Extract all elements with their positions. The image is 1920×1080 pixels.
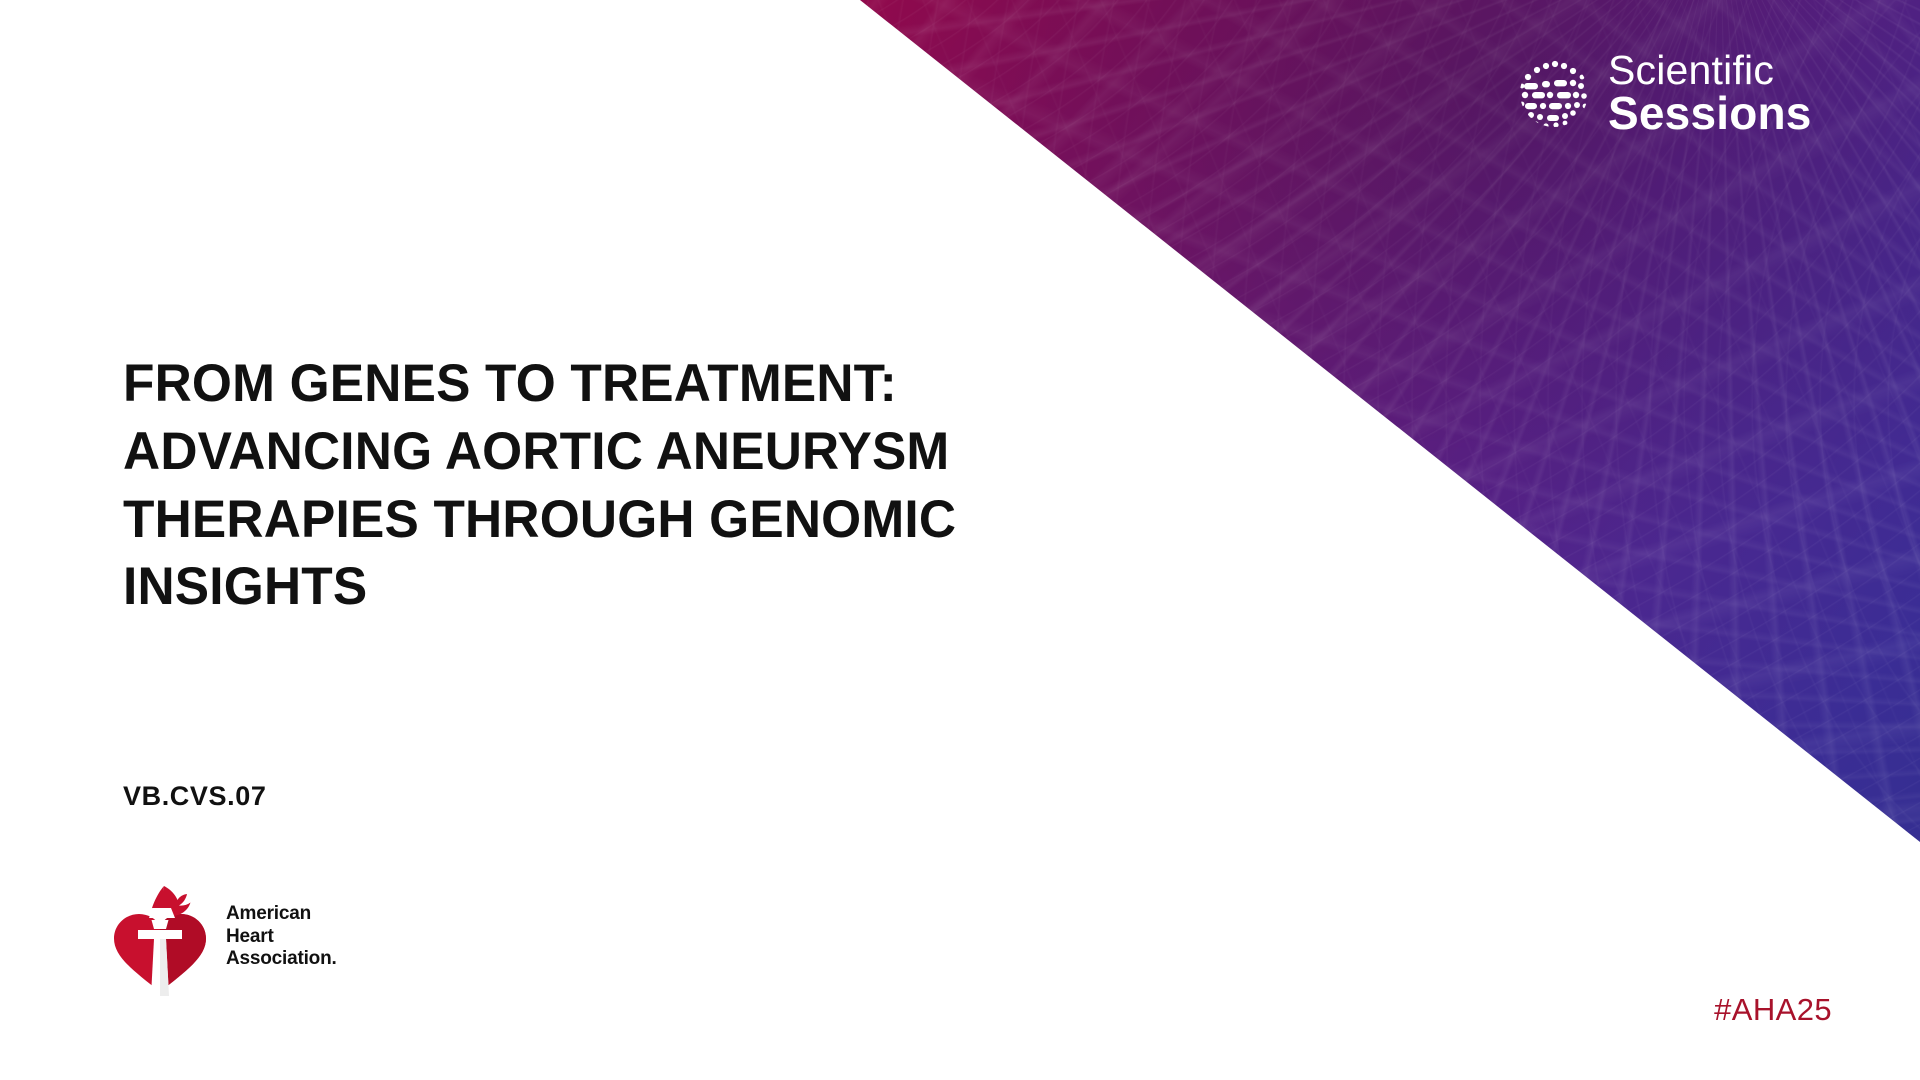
heart-and-torch-icon: [108, 878, 212, 996]
scientific-sessions-logo: Scientific Sessions: [1516, 52, 1812, 134]
aha-line2: Heart: [226, 926, 337, 948]
presentation-slide: Scientific Sessions FROM GENES TO TREATM…: [0, 0, 1920, 1080]
scientific-sessions-line2: Sessions: [1608, 92, 1812, 134]
american-heart-association-logo: American Heart Association.: [108, 878, 337, 996]
aha-line3: Association.: [226, 948, 337, 970]
scientific-sessions-wordmark: Scientific Sessions: [1608, 52, 1812, 134]
page-title: FROM GENES TO TREATMENT: ADVANCING AORTI…: [123, 350, 1151, 621]
event-hashtag: #AHA25: [1714, 992, 1832, 1028]
american-heart-association-wordmark: American Heart Association.: [226, 903, 337, 970]
session-code: VB.CVS.07: [123, 781, 266, 812]
scientific-sessions-line1: Scientific: [1608, 52, 1812, 90]
aha-line1: American: [226, 903, 337, 925]
dotted-globe-icon: [1516, 55, 1592, 131]
